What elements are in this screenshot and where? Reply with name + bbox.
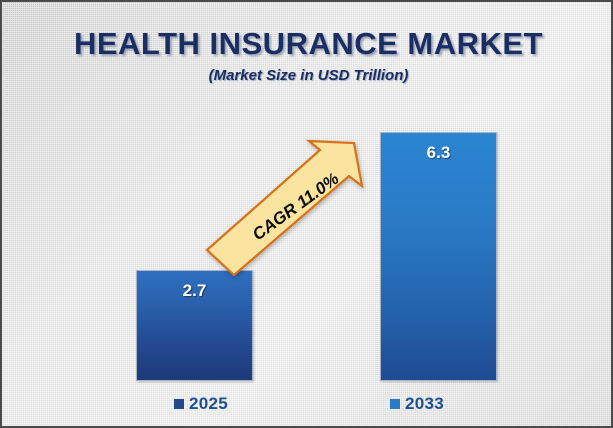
legend-swatch-2025: [174, 399, 184, 409]
bar-2025[interactable]: 2.7: [136, 270, 253, 381]
bar-value-2033: 6.3: [381, 143, 496, 163]
legend-label-2033: 2033: [405, 394, 444, 414]
chart-subtitle: (Market Size in USD Trillion): [2, 67, 613, 84]
legend-swatch-2033: [390, 399, 400, 409]
chart-slide: HEALTH INSURANCE MARKET (Market Size in …: [0, 0, 613, 428]
bar-value-2025: 2.7: [137, 281, 252, 301]
chart-title: HEALTH INSURANCE MARKET: [2, 28, 613, 61]
title-block: HEALTH INSURANCE MARKET (Market Size in …: [2, 28, 613, 84]
cagr-growth-arrow-icon: [202, 138, 387, 278]
legend-label-2025: 2025: [189, 394, 228, 414]
legend-item-2025[interactable]: 2025: [174, 394, 228, 414]
legend: 2025 2033: [2, 394, 613, 422]
legend-item-2033[interactable]: 2033: [390, 394, 444, 414]
bar-2033[interactable]: 6.3: [380, 132, 497, 381]
